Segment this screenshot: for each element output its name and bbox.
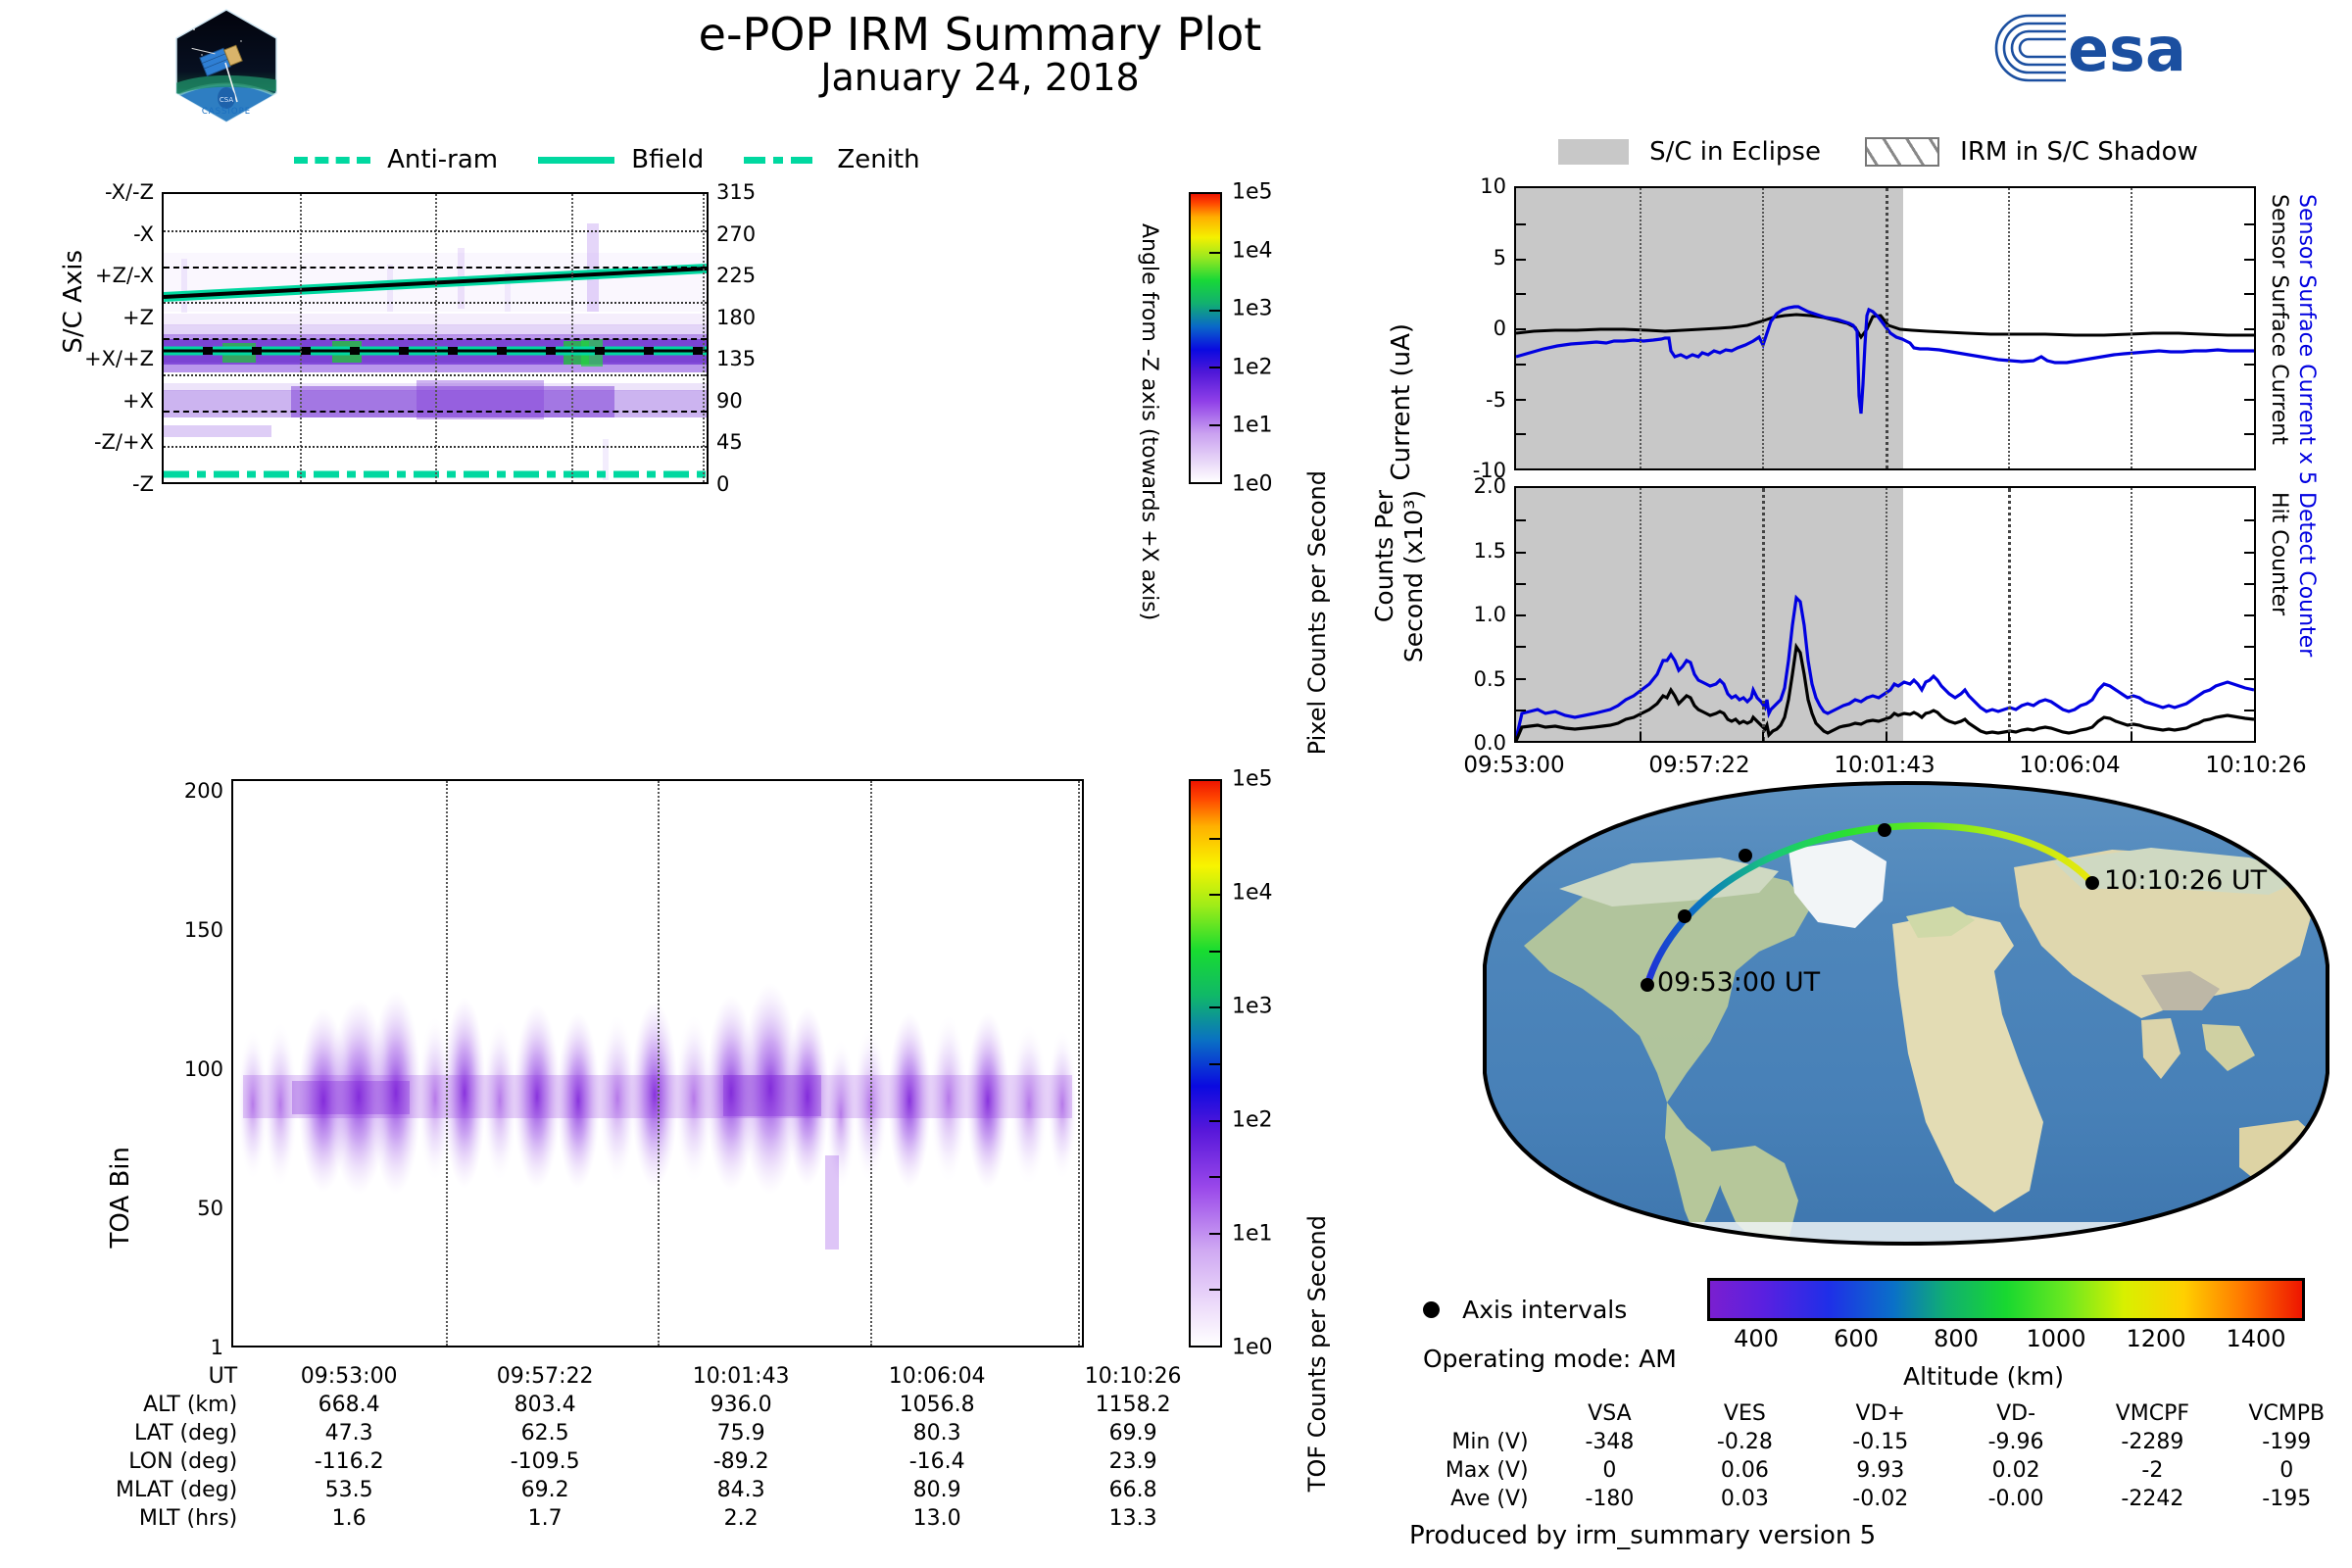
cell: 84.3: [643, 1476, 839, 1504]
legend-label-anti-ram: Anti-ram: [387, 145, 498, 174]
cell: 1.6: [251, 1504, 447, 1533]
operating-mode: Operating mode: AM: [1423, 1345, 1677, 1373]
row-label: Ave (V): [1409, 1485, 1543, 1513]
panel-current-right-label-blue: Sensor Surface Current x 5: [2294, 194, 2319, 485]
produced-by: Produced by irm_summary version 5: [1409, 1521, 1876, 1550]
cell: 10:10:26: [1035, 1362, 1231, 1391]
cell: 66.8: [1035, 1476, 1231, 1504]
panel-current-plot[interactable]: [1514, 186, 2256, 470]
gridline-h: [164, 374, 707, 376]
ytick-label: 150: [184, 918, 223, 942]
cell: -89.2: [643, 1447, 839, 1476]
track-marker: [2085, 876, 2099, 890]
table-row: MLAT (deg) 53.5 69.2 84.3 80.9 66.8: [116, 1476, 1231, 1504]
cell: -2289: [2083, 1428, 2221, 1456]
legend-swatch-zenith: [744, 157, 820, 164]
cell: 47.3: [251, 1419, 447, 1447]
gridline-h: [164, 338, 707, 340]
cell: -9.96: [1948, 1428, 2083, 1456]
panel-sc-axis-plot[interactable]: [162, 192, 709, 484]
voltage-table: VSA VES VD+ VD- VMCPF VCMPB Min (V) -348…: [1409, 1399, 2352, 1513]
legend-swatch-eclipse: [1558, 139, 1629, 165]
legend-swatch-bfield: [538, 157, 614, 164]
ytick-label-right: 225: [716, 264, 756, 287]
ytick-label: 0.0: [1474, 731, 1506, 755]
row-label: ALT (km): [116, 1391, 251, 1419]
ytick-label: +Z/-X: [95, 264, 154, 287]
ytick-label: 200: [184, 779, 223, 803]
cbar-tick: 1e5: [1232, 180, 1273, 205]
xtick-label: 10:06:04: [2019, 753, 2120, 778]
panel-toa-plot[interactable]: [231, 779, 1084, 1347]
mission-logo: CSA CASSIOPE: [172, 8, 280, 123]
gridline-v: [1886, 188, 1888, 468]
cbar-tick: 1400: [2226, 1325, 2285, 1352]
altitude-colorbar-label: Altitude (km): [1903, 1362, 2064, 1391]
ytick-label-right: 270: [716, 222, 756, 246]
ytick-label-right: 45: [716, 430, 743, 454]
gridline-v: [658, 781, 660, 1346]
marker-dot-icon: [1423, 1301, 1440, 1318]
legend-sc-axis: Anti-ram Bfield Zenith: [294, 145, 920, 174]
row-label: MLAT (deg): [116, 1476, 251, 1504]
xtick-label: 09:53:00: [1463, 753, 1564, 778]
cell: 0.06: [1677, 1456, 1812, 1485]
cell: 1158.2: [1035, 1391, 1231, 1419]
table-row: Max (V) 0 0.06 9.93 0.02 -2 0: [1409, 1456, 2352, 1485]
cell: -180: [1543, 1485, 1678, 1513]
cell: 09:53:00: [251, 1362, 447, 1391]
esa-logo: esa: [1989, 10, 2264, 86]
cell: 53.5: [251, 1476, 447, 1504]
ytick-label: 100: [184, 1057, 223, 1081]
cell: -116.2: [251, 1447, 447, 1476]
cell: 69.2: [447, 1476, 643, 1504]
col-header: VMCPF: [2083, 1399, 2221, 1428]
svg-text:CSA: CSA: [220, 96, 233, 104]
col-header: VD-: [1948, 1399, 2083, 1428]
page-date: January 24, 2018: [451, 56, 1509, 99]
row-label: Max (V): [1409, 1456, 1543, 1485]
cell: 1056.8: [839, 1391, 1035, 1419]
table-row: LAT (deg) 47.3 62.5 75.9 80.3 69.9: [116, 1419, 1231, 1447]
gridline-v: [2131, 188, 2132, 468]
cell: -0.02: [1813, 1485, 1948, 1513]
ytick-label: -X: [133, 222, 154, 246]
panel-counts-ylabel: Counts Per Second (x10³): [1370, 490, 1409, 755]
cell: 9.93: [1813, 1456, 1948, 1485]
cell: 1.7: [447, 1504, 643, 1533]
ytick-label: +Z: [122, 306, 154, 329]
legend-label-shadow: IRM in S/C Shadow: [1960, 137, 2198, 167]
gridline-v: [2008, 188, 2010, 468]
ytick-label: 1: [211, 1336, 223, 1359]
panel-counts-xticks: 09:53:00 09:57:22 10:01:43 10:06:04 10:1…: [1514, 753, 2256, 782]
cbar-tick: 1e4: [1232, 881, 1273, 906]
panel-counts-right-label-blue: Detect Counter: [2294, 492, 2319, 657]
ytick-label: 1.5: [1474, 539, 1506, 563]
cbar-tick: 1e4: [1232, 238, 1273, 263]
track-marker: [1641, 978, 1654, 992]
gridline-h: [164, 411, 707, 413]
row-label: UT: [116, 1362, 251, 1391]
gridline-v: [1640, 488, 1641, 741]
gridline-v: [870, 781, 872, 1346]
ytick-label: 5: [1494, 246, 1506, 269]
gridline-v: [1640, 188, 1641, 468]
tof-counts-colorbar: [1189, 779, 1222, 1347]
cell: 13.3: [1035, 1504, 1231, 1533]
ytick-label-right: 90: [716, 389, 743, 413]
xtick-label: 10:01:43: [1834, 753, 1935, 778]
legend-label-eclipse: S/C in Eclipse: [1649, 137, 1821, 167]
cbar-tick: 800: [1934, 1325, 1979, 1352]
ytick-label: +X: [122, 389, 154, 413]
ytick-label-right: 135: [716, 347, 756, 370]
cell: 75.9: [643, 1419, 839, 1447]
gridline-h: [164, 446, 707, 448]
cell: 10:01:43: [643, 1362, 839, 1391]
cell: -0.00: [1948, 1485, 2083, 1513]
cbar-tick: 1200: [2126, 1325, 2185, 1352]
ytick-label: 0: [1494, 317, 1506, 340]
ephemeris-table: UT 09:53:00 09:57:22 10:01:43 10:06:04 1…: [116, 1362, 1231, 1533]
orbit-end-label: 10:10:26 UT: [2104, 865, 2267, 896]
ytick-label-right: 0: [716, 472, 729, 496]
cell: 936.0: [643, 1391, 839, 1419]
mission-logo-text: CASSIOPE: [202, 107, 251, 117]
cell: -199: [2222, 1428, 2352, 1456]
page-title: e-POP IRM Summary Plot: [451, 8, 1509, 61]
gridline-v: [1762, 488, 1765, 741]
panel-toa-ylabel: TOA Bin: [106, 1147, 135, 1248]
esa-logo-text: esa: [2068, 14, 2186, 85]
table-row: Ave (V) -180 0.03 -0.02 -0.00 -2242 -195: [1409, 1485, 2352, 1513]
cell: 62.5: [447, 1419, 643, 1447]
cell: 09:57:22: [447, 1362, 643, 1391]
cell: -16.4: [839, 1447, 1035, 1476]
track-marker: [1878, 823, 1891, 837]
ytick-label-right: 180: [716, 306, 756, 329]
xtick-label: 10:10:26: [2205, 753, 2306, 778]
cell: 13.0: [839, 1504, 1035, 1533]
table-row: MLT (hrs) 1.6 1.7 2.2 13.0 13.3: [116, 1504, 1231, 1533]
panel-sc-axis-right-label: Angle from -Z axis (towards +X axis): [1137, 223, 1161, 620]
gridline-h: [164, 230, 707, 232]
cell: 803.4: [447, 1391, 643, 1419]
cell: 80.9: [839, 1476, 1035, 1504]
xtick-label: 09:57:22: [1648, 753, 1749, 778]
cbar-tick: 1e1: [1232, 1222, 1273, 1247]
cell: 2.2: [643, 1504, 839, 1533]
ylabel-line2: Second (x10³): [1399, 490, 1428, 662]
ytick-label: 10: [1480, 174, 1506, 198]
orbit-map[interactable]: 09:53:00 UT 10:10:26 UT: [1465, 779, 2347, 1249]
row-label: MLT (hrs): [116, 1504, 251, 1533]
cell: 0.03: [1677, 1485, 1812, 1513]
ytick-label: -Z/+X: [94, 430, 154, 454]
ytick-label: -Z: [132, 472, 154, 496]
ytick-label: -5: [1486, 388, 1506, 412]
gridline-h: [164, 267, 707, 269]
altitude-colorbar-ticks: 400 600 800 1000 1200 1400: [1707, 1325, 2305, 1364]
legend-swatch-shadow: [1865, 137, 1939, 167]
table-row: ALT (km) 668.4 803.4 936.0 1056.8 1158.2: [116, 1391, 1231, 1419]
cell: -2242: [2083, 1485, 2221, 1513]
ytick-label: 50: [197, 1197, 223, 1220]
col-header: VES: [1677, 1399, 1812, 1428]
table-row: Min (V) -348 -0.28 -0.15 -9.96 -2289 -19…: [1409, 1428, 2352, 1456]
panel-current-right-label-black: Sensor Surface Current: [2267, 194, 2291, 445]
axis-intervals-legend: Axis intervals: [1423, 1296, 1627, 1324]
col-header: VSA: [1543, 1399, 1678, 1428]
gridline-v: [446, 781, 448, 1346]
ytick-label-right: 315: [716, 180, 756, 204]
cell: 668.4: [251, 1391, 447, 1419]
cbar-tick: 1e0: [1232, 472, 1273, 497]
table-row: UT 09:53:00 09:57:22 10:01:43 10:06:04 1…: [116, 1362, 1231, 1391]
legend-eclipse: S/C in Eclipse IRM in S/C Shadow: [1558, 137, 2198, 167]
row-label: Min (V): [1409, 1428, 1543, 1456]
cell: -0.28: [1677, 1428, 1812, 1456]
row-label: LAT (deg): [116, 1419, 251, 1447]
ytick-label: -X/-Z: [105, 180, 154, 204]
cell: 80.3: [839, 1419, 1035, 1447]
cbar-tick: 1000: [2026, 1325, 2085, 1352]
gridline-v: [1078, 781, 1080, 1346]
panel-sc-axis-ylabel: S/C Axis: [59, 250, 88, 354]
cbar-tick: 1e0: [1232, 1336, 1273, 1360]
cell: 0: [1543, 1456, 1678, 1485]
table-row: LON (deg) -116.2 -109.5 -89.2 -16.4 23.9: [116, 1447, 1231, 1476]
cell: -348: [1543, 1428, 1678, 1456]
ytick-label: 2.0: [1474, 474, 1506, 498]
ytick-label: 1.0: [1474, 603, 1506, 626]
cell: -2: [2083, 1456, 2221, 1485]
cell: 23.9: [1035, 1447, 1231, 1476]
panel-counts-plot[interactable]: [1514, 486, 2256, 743]
cbar-tick: 1e2: [1232, 1108, 1273, 1133]
ytick-label: 0.5: [1474, 667, 1506, 691]
cbar-tick: 1e1: [1232, 414, 1273, 438]
cbar-tick: 400: [1734, 1325, 1779, 1352]
cell: 0: [2222, 1456, 2352, 1485]
col-header: VD+: [1813, 1399, 1948, 1428]
gridline-v: [2131, 488, 2132, 741]
legend-swatch-anti-ram: [294, 157, 370, 164]
cell: -109.5: [447, 1447, 643, 1476]
track-marker: [1678, 909, 1691, 923]
table-header-row: VSA VES VD+ VD- VMCPF VCMPB: [1409, 1399, 2352, 1428]
row-label: LON (deg): [116, 1447, 251, 1476]
gridline-v: [2008, 488, 2011, 741]
gridline-v: [1762, 188, 1764, 468]
cbar-tick: 1e3: [1232, 297, 1273, 321]
orbit-start-label: 09:53:00 UT: [1657, 967, 1820, 998]
cbar-tick: 600: [1834, 1325, 1879, 1352]
axis-intervals-label: Axis intervals: [1462, 1296, 1627, 1324]
panel-current-ylabel: Current (uA): [1387, 323, 1416, 480]
gridline-v: [1886, 488, 1887, 741]
legend-label-zenith: Zenith: [837, 145, 919, 174]
pixel-counts-colorbar: [1189, 192, 1222, 484]
cell: -195: [2222, 1485, 2352, 1513]
track-marker: [1739, 849, 1752, 862]
altitude-colorbar: [1707, 1278, 2305, 1321]
cell: -0.15: [1813, 1428, 1948, 1456]
cell: 10:06:04: [839, 1362, 1035, 1391]
gridline-h: [164, 302, 707, 304]
ylabel-line1: Counts Per: [1370, 490, 1398, 622]
cbar-tick: 1e5: [1232, 767, 1273, 792]
legend-label-bfield: Bfield: [631, 145, 704, 174]
col-header: VCMPB: [2222, 1399, 2352, 1428]
cell: 69.9: [1035, 1419, 1231, 1447]
tof-counts-colorbar-label: TOF Counts per Second: [1303, 1215, 1331, 1492]
cbar-tick: 1e3: [1232, 995, 1273, 1019]
panel-counts-right-label-black: Hit Counter: [2267, 492, 2291, 615]
cbar-tick: 1e2: [1232, 355, 1273, 379]
pixel-counts-colorbar-label: Pixel Counts per Second: [1303, 470, 1331, 755]
cell: 0.02: [1948, 1456, 2083, 1485]
ytick-label: +X/+Z: [84, 347, 154, 370]
